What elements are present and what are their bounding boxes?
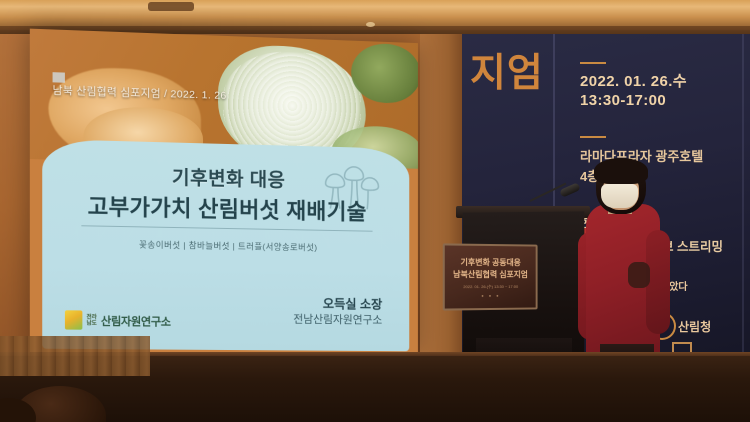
ceiling-light [366, 22, 375, 27]
speaker-hand [628, 262, 650, 288]
projection-screen: 남북 산림협력 심포지엄 / 2022. 1. 26 기후변화 대응 고부가가치… [30, 29, 418, 358]
banner-time: 13:30-17:00 [580, 92, 666, 109]
slide-header-marker [53, 72, 65, 83]
banner-date: 2022. 01. 26.수 [580, 70, 687, 91]
podium-sign: 기후변화 공동대응 남북산림협력 심포지엄 2022. 01. 26.(수) 1… [443, 243, 538, 310]
podium-sign-subtitle: 2022. 01. 26.(수) 13:30 ~ 17:00 [463, 283, 518, 289]
slide-speaker-name: 오득실 소장 [323, 293, 382, 312]
logo-line2: 남도 [86, 320, 96, 326]
face-mask-icon [601, 184, 638, 208]
banner-logo-2: 산림청 [678, 318, 711, 335]
podium-sign-line1: 기후변화 공동대응 [460, 256, 520, 267]
podium-sign-line2: 남북산림협력 심포지엄 [453, 268, 528, 279]
slide-divider [81, 225, 372, 231]
logo-mark-icon [65, 310, 82, 329]
slide-speaker-org: 전남산림자원연구소 [293, 311, 382, 328]
institute-logo: 전라 남도 산림자원연구소 [65, 310, 171, 330]
banner-live-text: 브 스트리밍 [662, 236, 723, 255]
slide-body: 기후변화 대응 고부가가치 산림버섯 재배기술 꽃송이버섯 | 참바늘버섯 | … [42, 139, 409, 351]
banner-rule-1 [580, 62, 606, 64]
backdrop-seam-right [742, 34, 744, 364]
logo-text: 산림자원연구소 [101, 312, 171, 329]
podium-sign-logos: ● ● ● [481, 292, 500, 297]
speaker-hair [594, 158, 648, 184]
banner-big-title: 지엄 [470, 42, 544, 98]
banner-rule-2 [580, 136, 606, 138]
curtain [0, 336, 150, 376]
slide-subtitle: 꽃송이버섯 | 참바늘버섯 | 트러플(서양송로버섯) [42, 237, 409, 255]
ceiling-vent [148, 2, 194, 11]
logo-region-text: 전라 남도 [86, 314, 96, 326]
conference-photo: 남북 산림협력 심포지엄 / 2022. 1. 26 기후변화 대응 고부가가치… [0, 0, 750, 422]
logo-line1: 전라 [86, 314, 96, 320]
